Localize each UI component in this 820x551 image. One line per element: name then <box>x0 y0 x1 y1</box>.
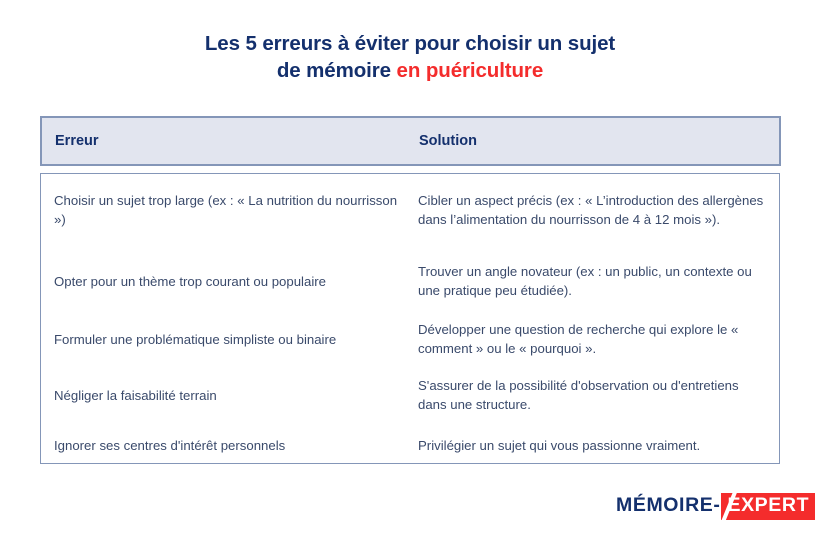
cell-erreur: Formuler une problématique simpliste ou … <box>41 330 413 349</box>
brand-logo-word-dark: MÉMOIRE- <box>616 496 720 516</box>
cell-erreur: Ignorer ses centres d'intérêt personnels <box>41 436 413 455</box>
table-row: Ignorer ses centres d'intérêt personnels… <box>41 422 779 469</box>
cell-erreur: Choisir un sujet trop large (ex : « La n… <box>41 191 413 229</box>
column-header-solution: Solution <box>414 133 779 149</box>
page-title-accent: en puériculture <box>397 59 544 82</box>
table-row: Formuler une problématique simpliste ou … <box>41 310 779 368</box>
cell-erreur: Opter pour un thème trop courant ou popu… <box>41 272 413 291</box>
cell-solution: Cibler un aspect précis (ex : « L’introd… <box>413 191 779 229</box>
cell-solution: Trouver un angle novateur (ex : un publi… <box>413 262 779 300</box>
cell-solution: S'assurer de la possibilité d'observatio… <box>413 376 779 414</box>
table-row: Négliger la faisabilité terrain S'assure… <box>41 368 779 422</box>
brand-logo-badge: EXPERT <box>721 493 815 520</box>
brand-logo-word-light: EXPERT <box>727 494 809 516</box>
table-row: Opter pour un thème trop courant ou popu… <box>41 252 779 310</box>
cell-solution: Développer une question de recherche qui… <box>413 320 779 358</box>
column-header-erreur: Erreur <box>42 133 414 149</box>
table-row: Choisir un sujet trop large (ex : « La n… <box>41 182 779 252</box>
cell-erreur: Négliger la faisabilité terrain <box>41 386 413 405</box>
cell-solution: Privilégier un sujet qui vous passionne … <box>413 436 779 455</box>
page-title-line-1: Les 5 erreurs à éviter pour choisir un s… <box>0 30 820 57</box>
page-title: Les 5 erreurs à éviter pour choisir un s… <box>0 30 820 84</box>
table-header-row: Erreur Solution <box>40 116 781 166</box>
table-body: Choisir un sujet trop large (ex : « La n… <box>40 173 780 464</box>
infographic-page: Les 5 erreurs à éviter pour choisir un s… <box>0 0 820 551</box>
page-title-line-2-plain: de mémoire <box>277 59 397 82</box>
page-title-line-2: de mémoire en puériculture <box>0 57 820 84</box>
brand-logo: MÉMOIRE- EXPERT <box>616 492 815 520</box>
